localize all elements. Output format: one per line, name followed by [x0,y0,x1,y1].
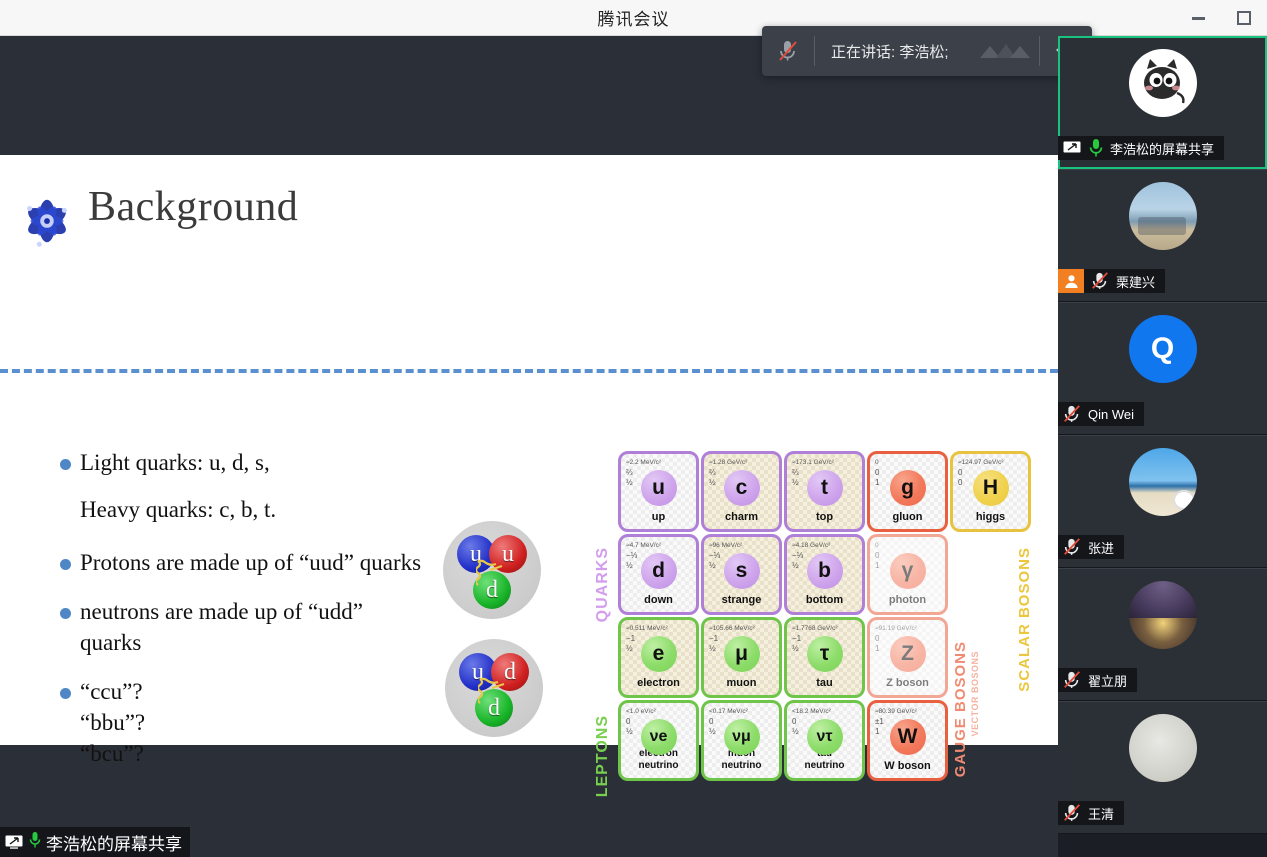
particle-symbol-wrap: e [621,636,696,672]
window-controls [1175,0,1267,36]
particle-name: strange [722,594,762,606]
quark-sphere: u [489,535,527,573]
particle-symbol-wrap: τ [787,636,862,672]
participant-namebar: 李浩松的屏幕共享 [1058,136,1224,160]
standard-model-table: QUARKS LEPTONS GAUGE BOSONS VECTOR BOSON… [592,451,1038,801]
particle-symbol-wrap: γ [870,553,945,589]
particle-symbol: H [973,470,1009,506]
particle-symbol: W [890,719,926,755]
particle-symbol-wrap: s [704,553,779,589]
list-item: Light quarks: u, d, s, Heavy quarks: c, … [54,447,424,525]
maximize-icon [1237,11,1251,25]
particle-mass: 0 [875,541,950,551]
particle-cell-empty [950,617,1031,698]
particle-symbol-wrap: ντ [787,719,862,755]
particle-mass: 0 [875,458,950,468]
participant-tile-2[interactable]: QQin Wei [1058,302,1267,435]
particle-cell-z-boson: ≈91.19 GeV/c²01ZZ boson [867,617,948,698]
bullet-dot-icon [60,459,71,470]
particle-symbol: ντ [807,719,843,755]
participant-name: Qin Wei [1088,407,1134,422]
particle-name: tau [816,677,833,689]
quark-sphere: d [491,653,529,691]
particle-symbol-wrap: μ [704,636,779,672]
title-divider [0,369,1058,373]
participant-namebar: 翟立朋 [1058,668,1137,692]
particle-symbol-wrap: νe [621,719,696,755]
bullet-extra: “bcu”? [54,738,424,769]
particle-name: top [816,511,833,523]
particle-cell-empty [950,700,1031,781]
shared-screen-area: Background Light quarks: u, d, s, Heavy … [0,36,1058,857]
particle-mass: ≈91.19 GeV/c² [875,624,950,634]
avatar [1129,448,1197,516]
particle-cell-bottom: ≈4.18 GeV/c²−⅓½bbottom [784,534,865,615]
particle-grid: ≈2.2 MeV/c²⅔½uup≈1.28 GeV/c²⅔½ccharm≈173… [618,451,1032,782]
participant-namebar: 栗建兴 [1058,269,1165,293]
particle-mass: <0.17 MeV/c² [709,707,784,717]
participant-name: 李浩松的屏幕共享 [1110,139,1214,158]
participant-name: 张进 [1088,538,1114,557]
screen-share-icon [1062,139,1082,157]
speaking-toolbar[interactable]: 正在讲话: 李浩松; [762,26,1092,76]
particle-symbol: t [807,470,843,506]
particle-symbol-wrap: d [621,553,696,589]
minimize-icon [1192,17,1205,20]
particle-cell-empty [950,534,1031,615]
particle-cell-strange: ≈96 MeV/c²−⅓½sstrange [701,534,782,615]
bullet-subline: Heavy quarks: c, b, t. [54,494,424,525]
presentation-slide: Background Light quarks: u, d, s, Heavy … [0,155,1058,745]
mic-on-icon [28,831,42,854]
neutron-diagram: u d d [445,639,543,737]
particle-symbol-wrap: c [704,470,779,506]
particle-cell-electron: ≈0.511 MeV/c²−1½eelectron [618,617,699,698]
particle-name: up [652,511,665,523]
mic-on-icon[interactable] [1088,138,1104,158]
mic-muted-icon[interactable] [1062,404,1082,424]
particle-cell-w-boson: ≈80.39 GeV/c²±11WW boson [867,700,948,781]
mic-muted-icon[interactable] [1062,537,1082,557]
particle-symbol: d [641,553,677,589]
avatar: Q [1129,315,1197,383]
particle-cell-muon: ≈105.66 MeV/c²−1½μmuon [701,617,782,698]
list-item: neutrons are made up of “udd” quarks [54,596,424,658]
participant-name: 翟立朋 [1088,671,1127,690]
particle-cell-up: ≈2.2 MeV/c²⅔½uup [618,451,699,532]
participant-tile-1[interactable]: 栗建兴 [1058,169,1267,302]
particle-name: higgs [976,511,1005,523]
bullet-dot-icon [60,559,71,570]
particle-name: down [644,594,673,606]
tencent-meeting-window: 腾讯会议 [0,0,1267,857]
particle-name: gluon [893,511,923,523]
bullet-text: “ccu”? [54,676,424,707]
participant-tile-0[interactable]: 李浩松的屏幕共享 [1058,36,1267,169]
particle-cell-higgs: ≈124.97 GeV/c²00Hhiggs [950,451,1031,532]
participant-tile-5[interactable]: 王清 [1058,701,1267,834]
particle-cell-gluon: 001ggluon [867,451,948,532]
particle-mass: <1.0 eV/c² [626,707,701,717]
particle-symbol: μ [724,636,760,672]
avatar [1129,49,1197,117]
mic-muted-icon[interactable] [762,39,814,63]
particle-name: charm [725,511,758,523]
particle-symbol: b [807,553,843,589]
particle-name: electron [637,677,680,689]
particle-symbol: τ [807,636,843,672]
particle-symbol: u [641,470,677,506]
particle-symbol-wrap: g [870,470,945,506]
particle-symbol: νμ [724,719,760,755]
participant-name: 栗建兴 [1116,272,1155,291]
particle-symbol-wrap: H [953,470,1028,506]
participant-namebar: Qin Wei [1058,402,1144,426]
particle-symbol: Z [890,636,926,672]
mic-muted-icon[interactable] [1062,670,1082,690]
participant-sidebar[interactable]: 李浩松的屏幕共享栗建兴QQin Wei张进翟立朋王清 [1058,36,1267,857]
list-item: “ccu”? “bbu”? “bcu”? [54,676,424,769]
group-label-quarks: QUARKS [594,547,612,622]
particle-name: photon [889,594,926,606]
window-title: 腾讯会议 [598,5,670,30]
maximize-button[interactable] [1221,0,1267,36]
avatar [1129,182,1197,250]
bullet-dot-icon [60,688,71,699]
page-title: Background [88,183,298,231]
bullet-text: Light quarks: u, d, s, [54,447,424,478]
proton-diagram: u u d [443,521,541,619]
slide-bullet-list: Light quarks: u, d, s, Heavy quarks: c, … [54,447,424,783]
particle-mass: ≈80.39 GeV/c² [875,707,950,717]
particle-name: muon [727,677,757,689]
particle-symbol-wrap: νμ [704,719,779,755]
speaking-status-text: 正在讲话: 李浩松; [815,41,969,62]
particle-cell-top: ≈173.1 GeV/c²⅔½ttop [784,451,865,532]
particle-mass: ≈105.66 MeV/c² [709,624,784,634]
minimize-button[interactable] [1175,0,1221,36]
avatar [1129,714,1197,782]
particle-symbol-wrap: W [870,719,945,755]
particle-mass: <18.2 MeV/c² [792,707,867,717]
particle-symbol-wrap: t [787,470,862,506]
group-label-leptons: LEPTONS [594,715,612,797]
screen-share-owner: 李浩松的屏幕共享 [46,830,182,855]
particle-cell-electron-neutrino: <1.0 eV/c²0½νeelectronneutrino [618,700,699,781]
list-item: Protons are made up of “uud” quarks [54,547,424,578]
particle-cell-photon: 001γphoton [867,534,948,615]
mic-muted-icon[interactable] [1090,271,1110,291]
host-icon [1058,269,1084,293]
atom-icon [18,191,76,253]
participant-namebar: 张进 [1058,535,1124,559]
particle-symbol: s [724,553,760,589]
particle-name: bottom [806,594,843,606]
particle-symbol: e [641,636,677,672]
mic-muted-icon[interactable] [1062,803,1082,823]
participant-name: 王清 [1088,804,1114,823]
particle-cell-muon-neutrino: <0.17 MeV/c²0½νμmuonneutrino [701,700,782,781]
participant-tile-3[interactable]: 张进 [1058,435,1267,568]
particle-mass: ≈1.7768 GeV/c² [792,624,867,634]
particle-symbol-wrap: Z [870,636,945,672]
bullet-text: neutrons are made up of “udd” quarks [54,596,424,658]
tencent-meeting-logo-icon [969,38,1039,64]
particle-symbol: γ [890,553,926,589]
bullet-extra: “bbu”? [54,707,424,738]
particle-symbol: c [724,470,760,506]
particle-cell-charm: ≈1.28 GeV/c²⅔½ccharm [701,451,782,532]
particle-mass: ≈4.7 MeV/c² [626,541,701,551]
bullet-text: Protons are made up of “uud” quarks [54,547,424,578]
avatar [1129,581,1197,649]
particle-symbol-wrap: u [621,470,696,506]
particle-mass: ≈173.1 GeV/c² [792,458,867,468]
particle-mass: ≈1.28 GeV/c² [709,458,784,468]
particle-cell-tau: ≈1.7768 GeV/c²−1½τtau [784,617,865,698]
particle-mass: ≈4.18 GeV/c² [792,541,867,551]
particle-name: W boson [884,760,930,772]
quark-sphere: d [473,571,511,609]
particle-symbol: g [890,470,926,506]
quark-sphere: d [475,689,513,727]
particle-name: Z boson [886,677,929,689]
particle-mass: ≈96 MeV/c² [709,541,784,551]
particle-symbol: νe [641,719,677,755]
particle-mass: ≈0.511 MeV/c² [626,624,701,634]
participant-namebar: 王清 [1058,801,1124,825]
particle-mass: ≈124.97 GeV/c² [958,458,1033,468]
screen-share-label: 李浩松的屏幕共享 [0,827,190,857]
slide-header: Background [12,183,1042,269]
participant-tile-4[interactable]: 翟立朋 [1058,568,1267,701]
particle-mass: ≈2.2 MeV/c² [626,458,701,468]
bullet-dot-icon [60,608,71,619]
particle-symbol-wrap: b [787,553,862,589]
particle-cell-tau-neutrino: <18.2 MeV/c²0½ντtauneutrino [784,700,865,781]
screen-share-icon [4,833,24,851]
particle-cell-down: ≈4.7 MeV/c²−⅓½ddown [618,534,699,615]
